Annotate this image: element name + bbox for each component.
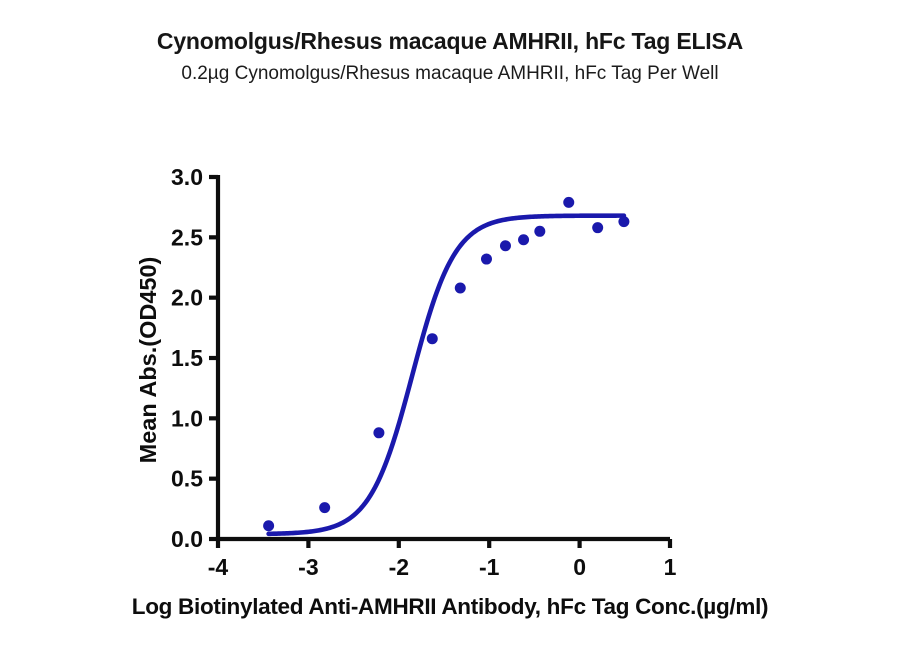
fit-curve: [269, 216, 624, 534]
data-point: [319, 502, 330, 513]
x-axis-label-text: Log Biotinylated Anti-AMHRII Antibody, h…: [0, 594, 900, 620]
x-tick-label: -3: [298, 554, 318, 580]
data-point: [481, 254, 492, 265]
y-tick-label: 1.5: [171, 345, 203, 371]
x-tick-label: 1: [664, 554, 677, 580]
data-point: [592, 222, 603, 233]
y-tick-label: 3.0: [171, 164, 203, 190]
elisa-chart-figure: Cynomolgus/Rhesus macaque AMHRII, hFc Ta…: [0, 0, 900, 661]
x-tick-label: -2: [389, 554, 409, 580]
y-axis-label: Mean Abs.(OD450): [135, 257, 161, 464]
x-tick-label: -4: [208, 554, 229, 580]
y-tick-label: 1.0: [171, 405, 203, 431]
data-point: [518, 234, 529, 245]
data-point: [618, 216, 629, 227]
y-tick-label: 2.0: [171, 285, 203, 311]
plot-area: 0.00.51.01.52.02.53.0-4-3-2-101 Mean Abs…: [0, 0, 900, 661]
data-point: [263, 520, 274, 531]
sigmoid-fit-curve: [269, 216, 624, 534]
data-point: [427, 333, 438, 344]
x-tick-label: -1: [479, 554, 500, 580]
data-point: [455, 283, 466, 294]
y-axis-label-text: Mean Abs.(OD450): [135, 257, 161, 464]
data-point: [500, 240, 511, 251]
data-point: [563, 197, 574, 208]
y-tick-label: 0.5: [171, 466, 203, 492]
y-tick-label: 2.5: [171, 224, 203, 250]
y-tick-label: 0.0: [171, 526, 203, 552]
data-point: [373, 427, 384, 438]
data-points-group: [263, 197, 629, 531]
data-point: [534, 226, 545, 237]
x-tick-label: 0: [573, 554, 586, 580]
